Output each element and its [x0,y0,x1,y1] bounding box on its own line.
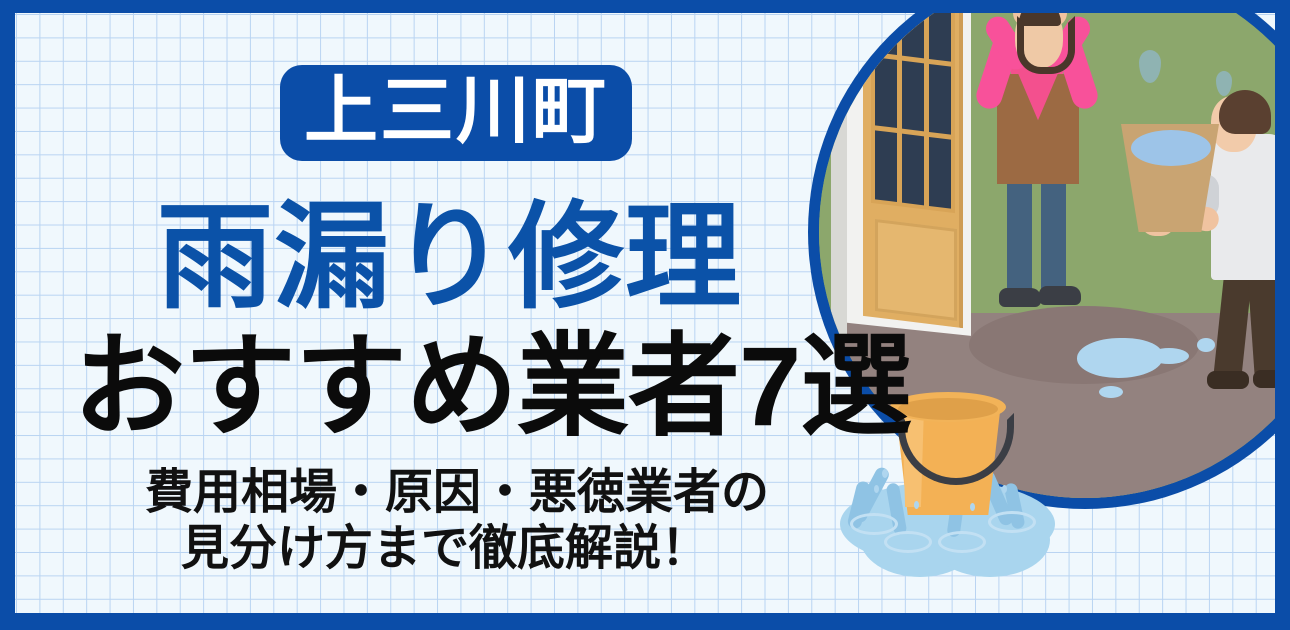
floor-puddle-droplet [1197,338,1215,352]
bucket-man-shirt [1211,134,1275,280]
bucket-man-shoe-right [1253,370,1275,388]
headline-secondary: おすすめ業者7選 [73,331,911,443]
water-ripple [988,511,1036,533]
lead-line-2: 見分け方まで徹底解説！ [145,521,745,577]
door-pane [929,64,951,135]
door-pane [875,57,897,128]
bucket-man-shoe-left [1207,371,1249,389]
distressed-man-leg-right [1041,176,1066,294]
water-splash-drop [874,485,879,493]
bucket-man-hair [1219,90,1271,134]
door-pane-grid [875,13,951,209]
distressed-man-shoe-left [999,288,1041,307]
region-badge: 上三川町 [280,65,632,161]
door-pane [929,137,951,208]
grid-paper-background: 上三川町 雨漏り修理 おすすめ業者7選 費用相場・原因・悪徳業者の 見分け方まで… [15,13,1275,613]
door-pane [902,60,924,131]
door-pane [875,13,897,55]
door-pane [929,13,951,61]
water-splash-drop [970,503,975,511]
door-pane [902,13,924,58]
water-splash-drop [882,469,888,478]
distressed-man-beard [1017,16,1075,74]
lead-line-1: 費用相場・原因・悪徳業者の [145,466,769,519]
water-ripple [938,531,986,553]
water-ripple [850,513,898,535]
water-ripple [884,531,932,553]
lead-text: 費用相場・原因・悪徳業者の 見分け方まで徹底解説！ [145,465,745,576]
floor-puddle-droplet [1099,386,1123,398]
door-pane [902,134,924,205]
headline-primary: 雨漏り修理 [157,199,742,315]
floor-puddle-tail [1149,348,1189,364]
carried-bucket-water [1131,130,1211,166]
water-splash-drop [1002,485,1007,493]
distressed-man-leg-left [1007,176,1032,296]
water-splash-drop [914,501,919,509]
distressed-man-shoe-right [1039,286,1081,305]
banner-canvas: 上三川町 雨漏り修理 おすすめ業者7選 費用相場・原因・悪徳業者の 見分け方まで… [0,0,1290,630]
door-pane [875,131,897,202]
door-frame-edge [831,13,847,335]
door-lower-panel [875,219,957,321]
